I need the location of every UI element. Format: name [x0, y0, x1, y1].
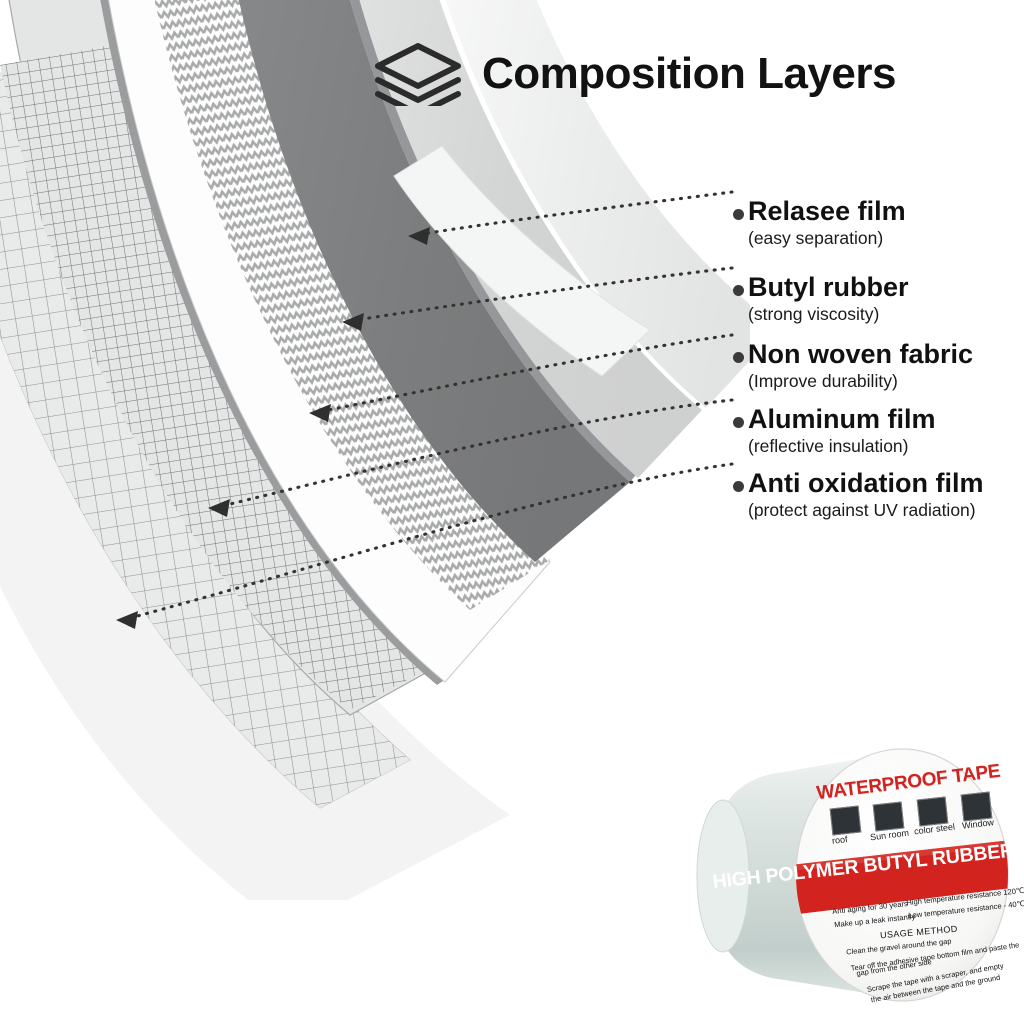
callout-aluminum-film: Aluminum film (reflective insulation): [748, 406, 936, 455]
callout-dot-nonwoven: [733, 352, 744, 363]
callout-subtitle-release: (easy separation): [748, 229, 906, 247]
callout-non-woven-fabric: Non woven fabric (Improve durability): [748, 341, 973, 390]
app-caption-roof: roof: [831, 834, 848, 846]
app-thumb-sun-room: [873, 802, 905, 832]
callout-dot-butyl: [733, 285, 744, 296]
callout-title-release: Relasee film: [748, 198, 906, 226]
composition-layers-infographic: Composition Layers Relasee film (easy se…: [0, 0, 1024, 1024]
callout-subtitle-antiox: (protect against UV radiation): [748, 501, 984, 519]
layers-stack-icon: [372, 42, 464, 106]
callout-subtitle-aluminum: (reflective insulation): [748, 437, 936, 455]
callout-butyl-rubber: Butyl rubber (strong viscosity): [748, 274, 909, 323]
callout-dot-aluminum: [733, 417, 744, 428]
callout-title-antiox: Anti oxidation film: [748, 470, 984, 498]
callout-title-aluminum: Aluminum film: [748, 406, 936, 434]
callout-title-butyl: Butyl rubber: [748, 274, 909, 302]
callout-release-film: Relasee film (easy separation): [748, 198, 906, 247]
layer-stack-illustration: [0, 0, 750, 900]
page-title: Composition Layers: [482, 52, 896, 96]
page-title-bar: Composition Layers: [372, 42, 896, 106]
app-thumb-roof: [830, 806, 862, 836]
callout-title-nonwoven: Non woven fabric: [748, 341, 973, 369]
product-roll-photo: WATERPROOF TAPE roof Sun room color stee…: [690, 735, 1020, 1015]
callout-dot-antiox: [733, 481, 744, 492]
callout-dot-release: [733, 209, 744, 220]
callout-anti-oxidation-film: Anti oxidation film (protect against UV …: [748, 470, 984, 519]
callout-subtitle-nonwoven: (Improve durability): [748, 372, 973, 390]
callout-subtitle-butyl: (strong viscosity): [748, 305, 909, 323]
